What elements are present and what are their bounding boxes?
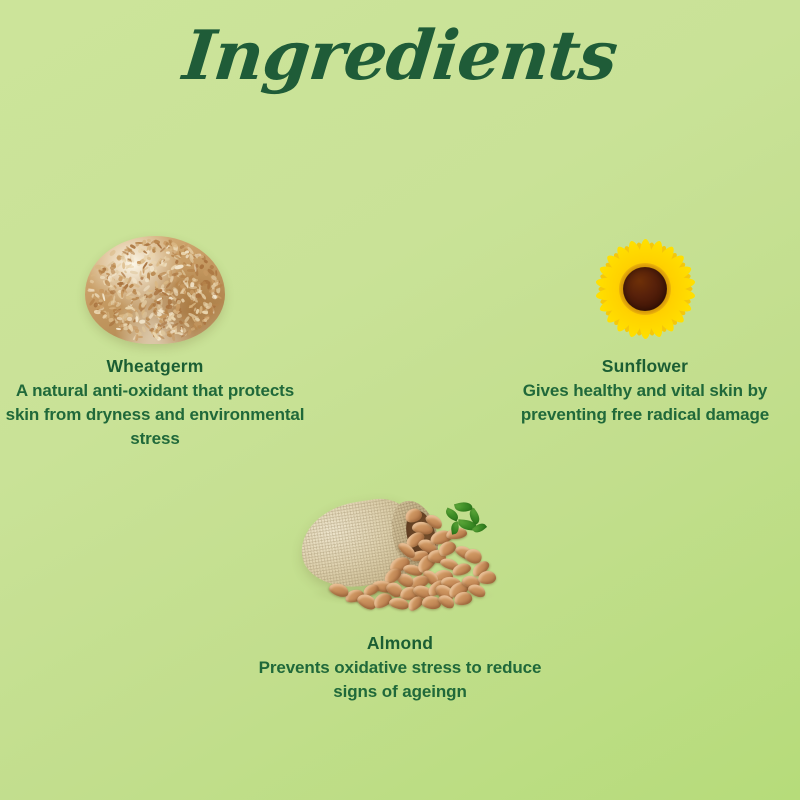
- ingredient-description-almond: Prevents oxidative stress to reduce sign…: [245, 656, 555, 704]
- ingredient-name-sunflower: Sunflower: [490, 356, 800, 377]
- ingredient-description-wheatgerm: A natural anti-oxidant that protects ski…: [0, 379, 310, 451]
- ingredient-description-sunflower: Gives healthy and vital skin by preventi…: [490, 379, 800, 427]
- sunflower-icon: [581, 230, 709, 348]
- wheatgerm-icon: [80, 230, 230, 348]
- ingredient-name-almond: Almond: [245, 633, 555, 654]
- almond-icon: [295, 490, 505, 625]
- page-title: Ingredients: [0, 22, 800, 90]
- sunflower-center-icon: [623, 267, 667, 311]
- ingredient-card-wheatgerm: Wheatgerm A natural anti-oxidant that pr…: [0, 230, 310, 451]
- ingredient-card-sunflower: Sunflower Gives healthy and vital skin b…: [490, 230, 800, 427]
- ingredient-name-wheatgerm: Wheatgerm: [0, 356, 310, 377]
- ingredient-card-almond: Almond Prevents oxidative stress to redu…: [245, 490, 555, 704]
- ingredients-poster: Ingredients Wheatgerm A natural anti-oxi…: [0, 0, 800, 800]
- almond-nut: [477, 571, 496, 586]
